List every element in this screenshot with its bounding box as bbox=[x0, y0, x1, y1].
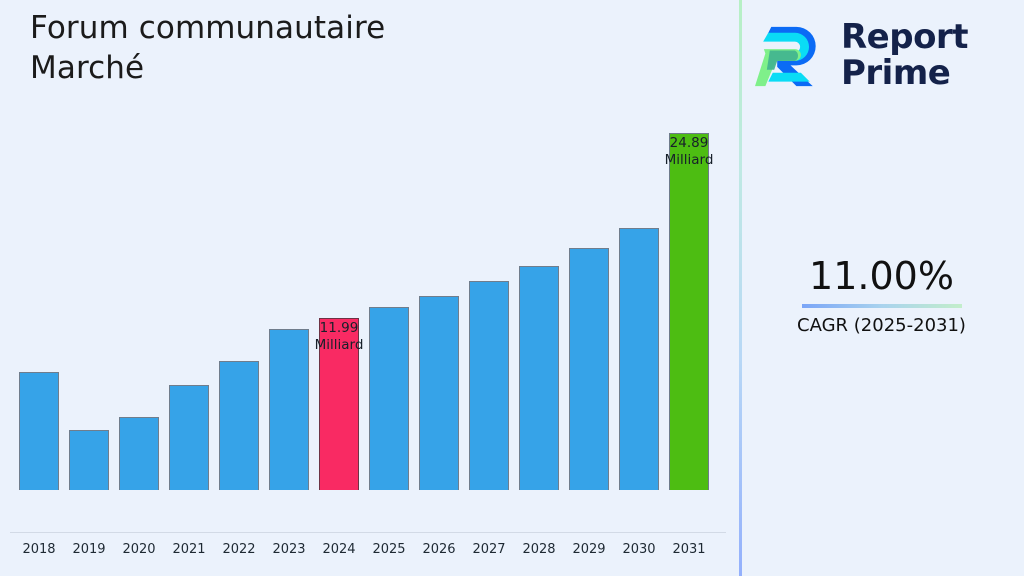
chart-panel: Forum communautaire Marché 11.99 Milliar… bbox=[0, 0, 739, 576]
x-axis-line bbox=[10, 532, 726, 533]
bar-2028 bbox=[519, 266, 559, 490]
report-slide: Forum communautaire Marché 11.99 Milliar… bbox=[0, 0, 1024, 576]
bar-2025 bbox=[369, 307, 409, 490]
bar-2022 bbox=[219, 361, 259, 490]
bar-2018 bbox=[19, 372, 59, 490]
bar-series: 11.99 Milliard24.89 Milliard bbox=[0, 0, 739, 533]
brand-logo: Report Prime bbox=[755, 12, 1010, 98]
x-axis-tick-labels: 2018201920202021202220232024202520262027… bbox=[0, 540, 739, 570]
bar-2027 bbox=[469, 281, 509, 490]
report-prime-logo-icon bbox=[755, 18, 829, 92]
bar-2026 bbox=[419, 296, 459, 490]
summary-panel: Report Prime 11.00% CAGR (2025-2031) bbox=[739, 0, 1024, 576]
x-tick-2031: 2031 bbox=[659, 540, 719, 560]
brand-name-line-1: Report bbox=[841, 17, 968, 57]
bar-value-label-2031: 24.89 Milliard bbox=[629, 135, 749, 169]
brand-name: Report Prime bbox=[841, 19, 968, 91]
cagr-caption: CAGR (2025-2031) bbox=[749, 314, 1014, 338]
cagr-divider-rule bbox=[802, 304, 962, 308]
brand-name-line-2: Prime bbox=[841, 53, 950, 93]
bar-2030 bbox=[619, 228, 659, 490]
bar-chart: 11.99 Milliard24.89 Milliard 20182019202… bbox=[0, 0, 739, 576]
cagr-value: 11.00% bbox=[749, 252, 1014, 300]
bar-2020 bbox=[119, 417, 159, 490]
bar-2031 bbox=[669, 133, 709, 490]
bar-2021 bbox=[169, 385, 209, 490]
bar-2019 bbox=[69, 430, 109, 490]
bar-2029 bbox=[569, 248, 609, 490]
cagr-block: 11.00% CAGR (2025-2031) bbox=[749, 252, 1014, 338]
